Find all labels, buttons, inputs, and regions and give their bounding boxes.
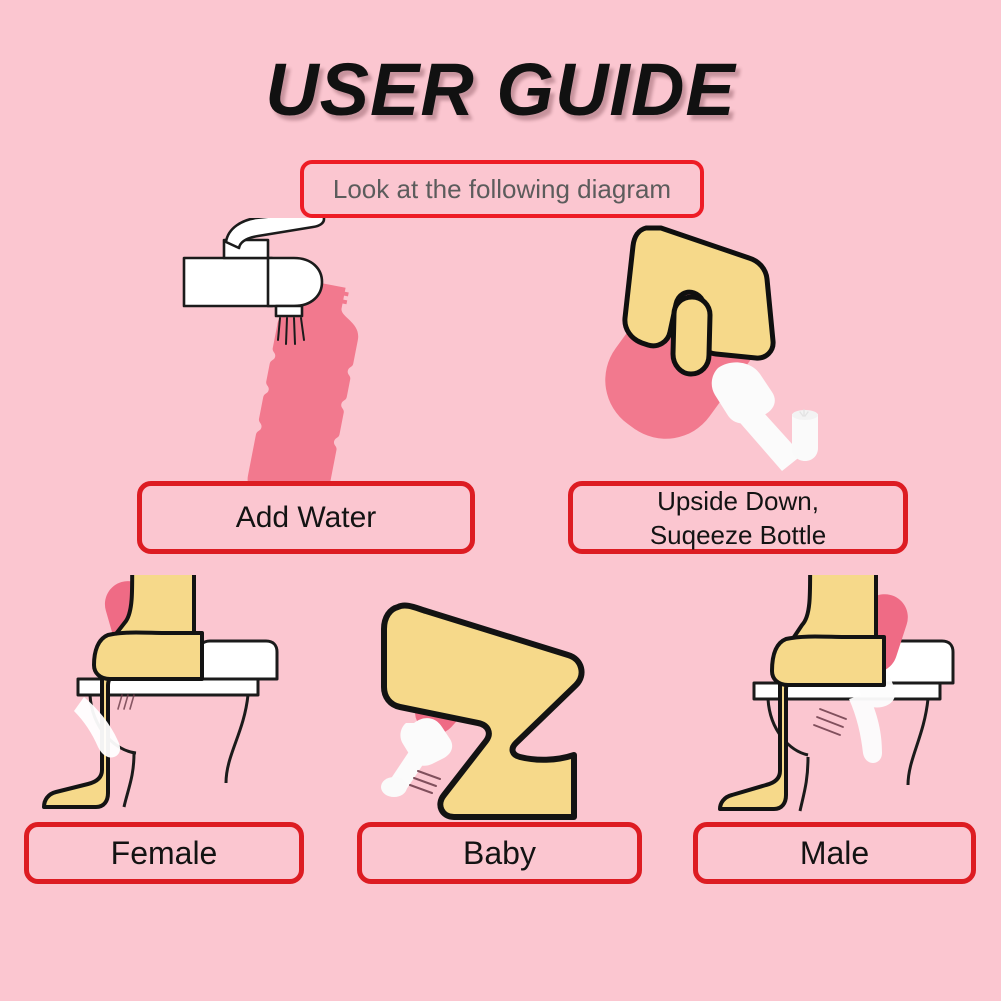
label-female: Female [24,822,304,884]
label-male-text: Male [800,835,869,872]
female-on-toilet-icon [12,575,332,825]
baby-lying-down-icon [350,575,660,825]
subtitle-text: Look at the following diagram [333,174,671,205]
label-add-water: Add Water [137,481,475,554]
label-baby: Baby [357,822,642,884]
label-upside-down-line2: Suqeeze Bottle [650,518,826,552]
hand-squeezing-bottle-icon [570,218,900,488]
label-female-text: Female [111,835,218,872]
page-title: USER GUIDE [0,52,1001,128]
label-baby-text: Baby [463,835,536,872]
label-upside-down-line1: Upside Down, [650,484,826,518]
user-guide-page: USER GUIDE Look at the following diagram [0,0,1001,1001]
label-male: Male [693,822,976,884]
label-upside-down: Upside Down, Suqeeze Bottle [568,481,908,554]
subtitle-box: Look at the following diagram [300,160,704,218]
label-add-water-text: Add Water [236,501,377,535]
male-on-toilet-icon [672,575,992,825]
faucet-filling-bottle-icon [150,218,450,488]
